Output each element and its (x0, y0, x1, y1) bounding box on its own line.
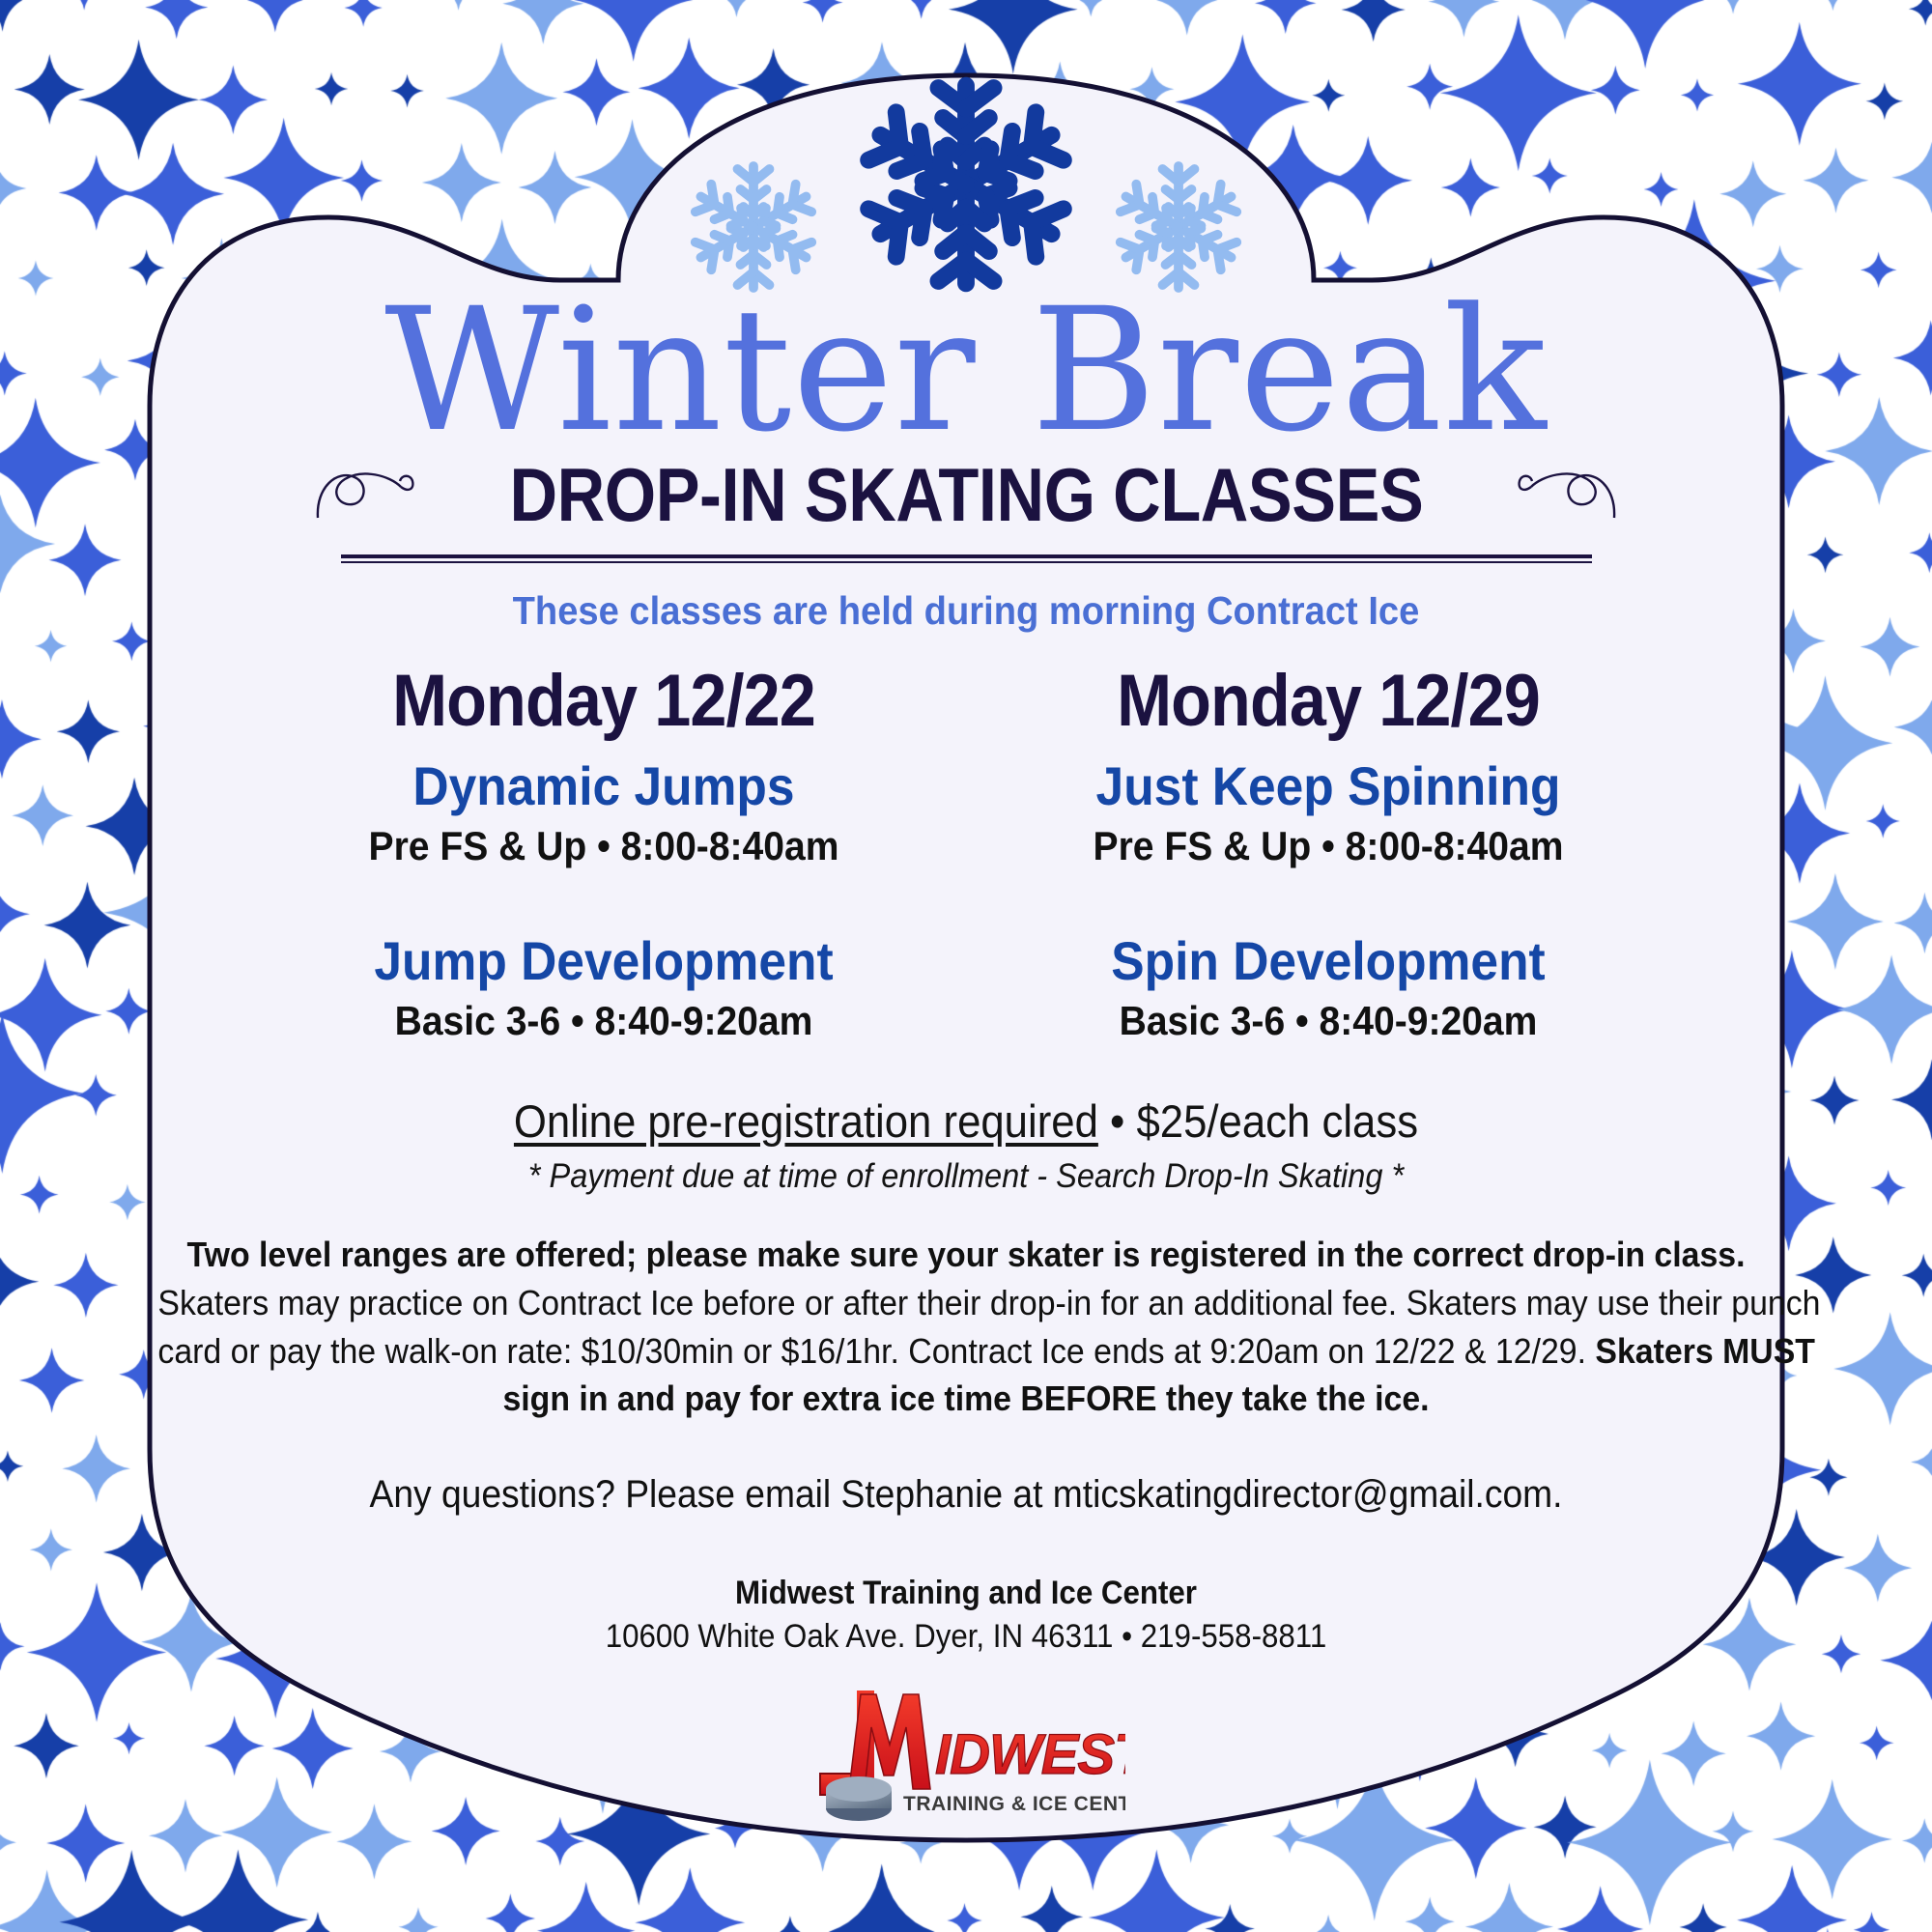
schedule-column-monday-1222: Monday 12/22 Dynamic Jumps Pre FS & Up •… (241, 659, 966, 1044)
class-name: Just Keep Spinning (995, 754, 1662, 817)
class-block: Just Keep Spinning Pre FS & Up • 8:00-8:… (966, 754, 1690, 869)
day-heading: Monday 12/29 (1003, 659, 1655, 743)
class-detail: Pre FS & Up • 8:00-8:40am (267, 823, 941, 869)
flourish-right-icon (1506, 462, 1620, 528)
registration-price-text: • $25/each class (1098, 1095, 1418, 1147)
contact-email-line: Any questions? Please email Stephanie at… (166, 1473, 1765, 1517)
registration-line: Online pre-registration required • $25/e… (166, 1094, 1765, 1148)
class-detail: Pre FS & Up • 8:00-8:40am (991, 823, 1665, 869)
hockey-puck-icon (826, 1776, 892, 1821)
flourish-left-icon (312, 462, 426, 528)
class-schedule-grid: Monday 12/22 Dynamic Jumps Pre FS & Up •… (106, 659, 1826, 1044)
policy-line-2: Skaters may practice on Contract Ice bef… (157, 1283, 1820, 1322)
policy-line-3b: Skaters MUST (1595, 1331, 1815, 1371)
payment-note: * Payment due at time of enrollment - Se… (166, 1157, 1765, 1196)
class-block: Spin Development Basic 3-6 • 8:40-9:20am (966, 929, 1690, 1044)
page-subtitle: DROP-IN SKATING CLASSES (509, 451, 1423, 539)
contract-ice-note: These classes are held during morning Co… (166, 588, 1765, 634)
class-name: Spin Development (995, 929, 1662, 992)
registration-required-text: Online pre-registration required (514, 1095, 1098, 1147)
policy-line-1: Two level ranges are offered; please mak… (186, 1235, 1745, 1274)
class-detail: Basic 3-6 • 8:40-9:20am (267, 998, 941, 1044)
class-name: Jump Development (270, 929, 937, 992)
class-block: Jump Development Basic 3-6 • 8:40-9:20am (241, 929, 966, 1044)
class-name: Dynamic Jumps (270, 754, 937, 817)
logo-wordmark-text: IDWEST (935, 1723, 1125, 1786)
policy-paragraph: Two level ranges are offered; please mak… (157, 1231, 1774, 1423)
midwest-logo: IDWEST TRAINING & ICE CENTER (106, 1681, 1826, 1826)
policy-line-4: sign in and pay for extra ice time BEFOR… (502, 1378, 1429, 1418)
logo-tagline-text: TRAINING & ICE CENTER (903, 1793, 1125, 1815)
page-title: Winter Break (106, 290, 1826, 457)
header-divider (341, 554, 1592, 563)
class-block: Dynamic Jumps Pre FS & Up • 8:00-8:40am (241, 754, 966, 869)
organization-name: Midwest Training and Ice Center (175, 1575, 1757, 1612)
policy-line-3a: card or pay the walk-on rate: $10/30min … (157, 1331, 1595, 1371)
subtitle-row: DROP-IN SKATING CLASSES (106, 451, 1826, 539)
schedule-column-monday-1229: Monday 12/29 Just Keep Spinning Pre FS &… (966, 659, 1690, 1044)
day-heading: Monday 12/22 (278, 659, 930, 743)
class-detail: Basic 3-6 • 8:40-9:20am (991, 998, 1665, 1044)
organization-address: 10600 White Oak Ave. Dyer, IN 46311 • 21… (175, 1618, 1757, 1656)
